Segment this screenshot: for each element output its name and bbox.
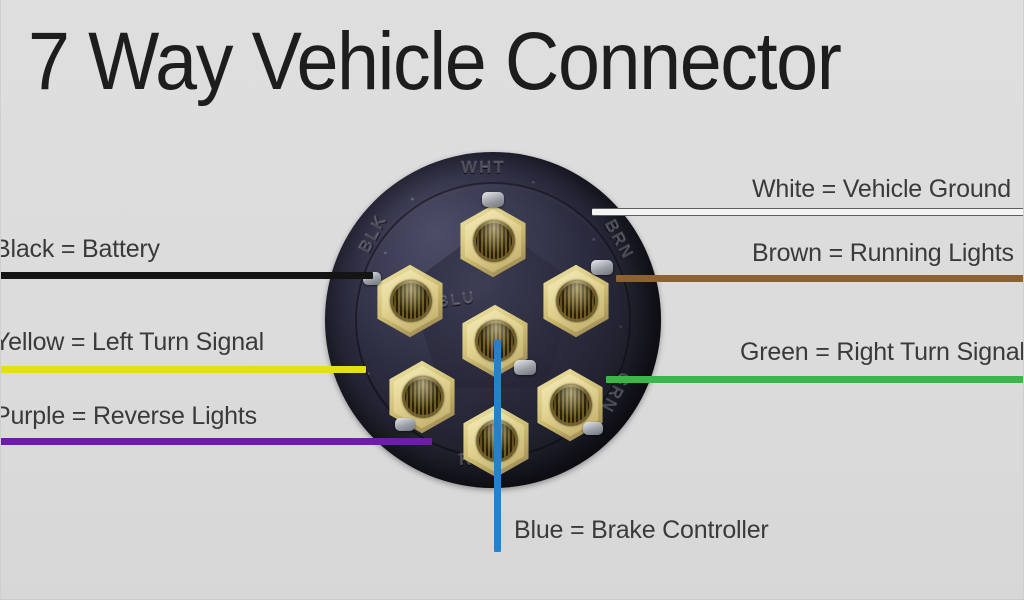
label-brown-running: Brown = Running Lights [752,239,1014,268]
terminal-bore [556,280,598,322]
terminal-lug [591,260,613,275]
label-green-right-turn: Green = Right Turn Signal [740,338,1024,367]
terminal-brown [539,264,613,338]
terminal-green [533,368,607,442]
label-blue-brake: Blue = Brake Controller [514,516,769,545]
terminal-white [456,204,530,278]
wire-white [592,209,1024,215]
label-purple-reverse: Purple = Reverse Lights [0,402,257,431]
label-black-battery: Black = Battery [0,235,160,264]
wire-blue [494,340,501,552]
wire-purple [0,438,432,445]
label-yellow-left-turn: Yellow = Left Turn Signal [0,328,264,357]
wire-brown [616,275,1024,282]
terminal-lug [583,422,603,435]
terminal-lug [395,418,415,431]
terminal-lug [514,360,536,375]
diagram-canvas: 7 Way Vehicle Connector WHT BLK BLU BRN … [0,0,1024,600]
terminal-yellow [385,360,459,434]
terminal-bore [402,376,444,418]
wire-yellow [0,366,366,373]
terminal-bore [550,384,592,426]
terminal-bore [390,280,432,322]
wire-black [0,272,373,279]
wire-green [606,376,1024,383]
terminal-bore [473,220,515,262]
terminal-lug [482,192,504,207]
label-white-ground: White = Vehicle Ground [752,175,1011,204]
terminal-black [373,264,447,338]
page-title: 7 Way Vehicle Connector [28,14,957,110]
